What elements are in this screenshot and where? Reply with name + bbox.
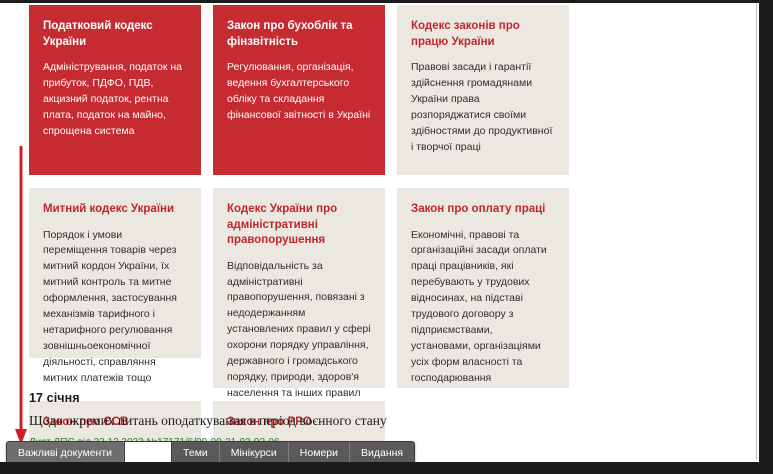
card-title: Кодекс законів про працю України [411, 19, 555, 50]
card-accounting-law[interactable]: Закон про бухоблік та фінзвітність Регул… [213, 5, 385, 175]
tab-publications[interactable]: Видання [350, 442, 414, 463]
card-description: Регулювання, організація, ведення бухгал… [227, 60, 371, 124]
tab-topics[interactable]: Теми [172, 442, 220, 463]
card-description: Адміністрування, податок на прибуток, ПД… [43, 60, 187, 140]
tab-label: Номери [300, 447, 338, 459]
card-title: Митний кодекс України [43, 202, 187, 218]
card-description: Економічні, правові та організаційні зас… [411, 228, 555, 388]
card-title: Закон про бухоблік та фінзвітність [227, 19, 371, 50]
card-administrative-offences-code[interactable]: Кодекс України про адміністративні право… [213, 188, 385, 388]
card-title: Податковий кодекс України [43, 19, 187, 50]
red-down-arrow-annotation [14, 146, 28, 446]
tab-label: Важливі документи [18, 447, 112, 459]
card-wages-law[interactable]: Закон про оплату праці Економічні, право… [397, 188, 569, 388]
window-frame-right [759, 0, 773, 462]
card-labour-code[interactable]: Кодекс законів про працю України Правові… [397, 5, 569, 175]
card-description: Відповідальність за адміністративні прав… [227, 259, 371, 403]
card-customs-code[interactable]: Митний кодекс України Порядок і умови пе… [29, 188, 201, 358]
card-description: Порядок і умови переміщення товарів чере… [43, 228, 187, 388]
bottom-tab-toolbar: Важливі документи Теми Мінікурси Номери … [6, 441, 415, 464]
tab-label: Видання [361, 447, 403, 459]
card-title: Кодекс України про адміністративні право… [227, 202, 371, 249]
window-frame-bottom [0, 462, 773, 474]
article-date: 17 січня [29, 391, 729, 405]
tab-issues[interactable]: Номери [289, 442, 350, 463]
tab-label: Мінікурси [231, 447, 277, 459]
card-description: Правові засади і гарантії здійснення гро… [411, 60, 555, 156]
window-frame-top [0, 0, 759, 3]
card-title: Закон про оплату праці [411, 202, 555, 218]
page-root: Податковий кодекс України Адмініструванн… [0, 0, 773, 474]
card-tax-code[interactable]: Податковий кодекс України Адмініструванн… [29, 5, 201, 175]
tab-important-documents[interactable]: Важливі документи [7, 442, 124, 463]
tab-minicourses[interactable]: Мінікурси [220, 442, 289, 463]
article-headline[interactable]: Щодо окремих питань оподаткування в пері… [29, 413, 729, 430]
tab-label: Теми [183, 447, 208, 459]
toolbar-gap [124, 442, 172, 463]
